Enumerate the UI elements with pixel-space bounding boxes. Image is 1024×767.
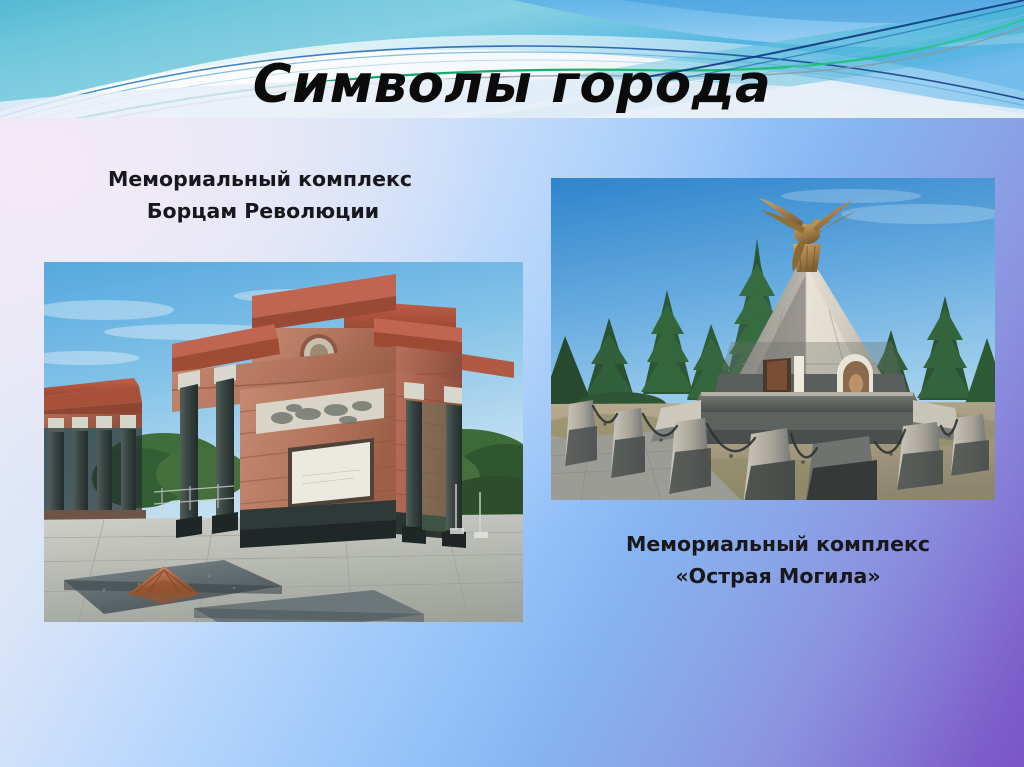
- photo-memorial-revolution-fighters: [44, 262, 523, 622]
- caption-left: Мемориальный комплекс Борцам Революции: [60, 163, 460, 228]
- photo-memorial-ostraya-mogila: [551, 178, 995, 500]
- caption-right-line2: «Острая Могила»: [578, 560, 978, 592]
- caption-right: Мемориальный комплекс «Острая Могила»: [578, 528, 978, 593]
- page-title: Символы города: [0, 57, 1024, 113]
- caption-right-line1: Мемориальный комплекс: [578, 528, 978, 560]
- caption-left-line1: Мемориальный комплекс: [60, 163, 460, 195]
- slide-root: Символы города Мемориальный комплекс Бор…: [0, 0, 1024, 767]
- caption-left-line2: Борцам Революции: [60, 195, 460, 227]
